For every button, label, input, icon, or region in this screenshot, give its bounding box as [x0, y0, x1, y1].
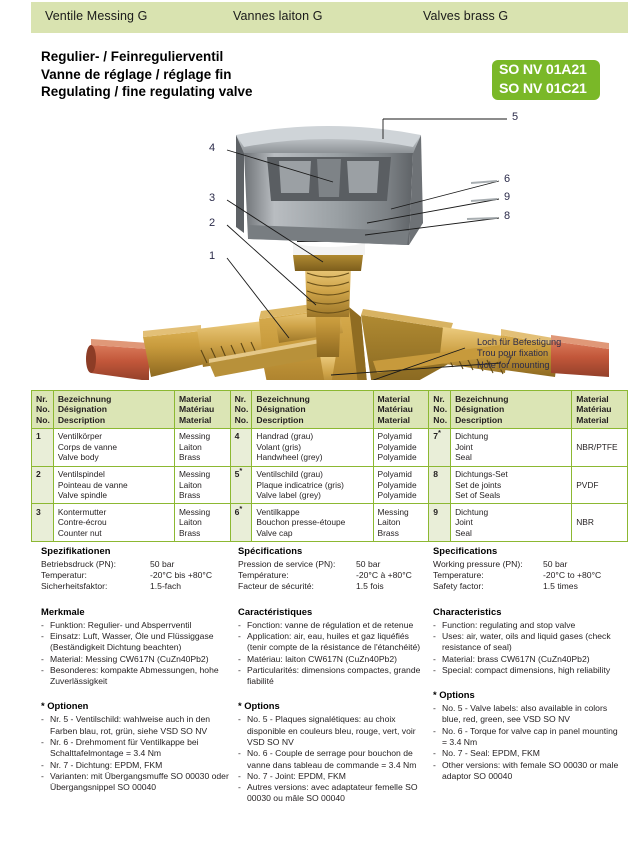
spec-value: 50 bar	[150, 559, 174, 570]
table-row: 1 Ventilkörper Corps de vanne Valve body…	[32, 428, 628, 466]
options-heading-en: * Options	[433, 689, 621, 700]
callout-4: 4	[209, 142, 215, 154]
list-item-text: Particularités: dimensions compactes, gr…	[247, 665, 420, 686]
dash-bullet: -	[238, 714, 241, 725]
list-item-text: Function: regulating and stop valve	[442, 620, 575, 630]
dash-bullet: -	[41, 771, 44, 782]
mounting-hole-annotation: Loch für Befestigung Trou pour fixation …	[477, 337, 561, 371]
dash-bullet: -	[433, 631, 436, 642]
list-item: -Einsatz: Luft, Wasser, Öle und Flüssigg…	[41, 631, 229, 654]
features-list-en: -Function: regulating and stop valve -Us…	[433, 620, 621, 676]
callout-2: 2	[209, 217, 215, 229]
row1-no-col2: 4	[230, 428, 252, 466]
language-header-bar: Ventile Messing G Vannes laiton G Valves…	[31, 2, 628, 33]
column-de: Spezifikationen Betriebsdruck (PN): 50 b…	[41, 545, 229, 793]
row1-mat1-fr: Laiton	[179, 442, 227, 453]
list-item-text: Autres versions: avec adaptateur femelle…	[247, 782, 418, 803]
header-desc3-en: Description	[455, 415, 568, 426]
row2-desc1-fr: Pointeau de vanne	[58, 480, 171, 491]
text-columns: Spezifikationen Betriebsdruck (PN): 50 b…	[41, 545, 641, 835]
dash-bullet: -	[433, 665, 436, 676]
row2-no3: 8	[433, 469, 438, 479]
header-desc2-fr: Désignation	[256, 404, 369, 415]
options-block-fr: * Options -No. 5 - Plaques signalétiques…	[238, 700, 426, 804]
header-nr-en: No.	[36, 415, 50, 426]
list-item-text: Funktion: Regulier- und Absperrventil	[50, 620, 191, 630]
row1-desc1-en: Valve body	[58, 452, 171, 463]
list-item: -Fonction: vanne de régulation et de ret…	[238, 620, 426, 631]
row2-mat1-en: Brass	[179, 490, 227, 501]
list-item: -Material: brass CW617N (CuZn40Pb2)	[433, 654, 621, 665]
list-item: -Nr. 6 - Drehmoment für Ventilkappe bei …	[41, 737, 229, 760]
row2-desc3-de: Dichtungs-Set	[455, 469, 568, 480]
header-lang-en: Valves brass G	[423, 9, 508, 23]
column-fr: Spécifications Pression de service (PN):…	[238, 545, 426, 805]
row3-desc-col1: Kontermutter Contre-écrou Counter nut	[53, 504, 174, 542]
spec-row: Working pressure (PN): 50 bar	[433, 559, 621, 570]
row3-desc1-de: Kontermutter	[58, 507, 171, 518]
header-nr-col1: Nr. No. No.	[32, 391, 54, 429]
dash-bullet: -	[433, 620, 436, 631]
header-desc2-de: Bezeichnung	[256, 394, 369, 405]
datasheet-page: Ventile Messing G Vannes laiton G Valves…	[0, 0, 642, 843]
list-item: -No. 6 - Couple de serrage pour bouchon …	[238, 748, 426, 771]
header-mat-col3: Material Matériau Material	[572, 391, 628, 429]
header-desc-fr: Désignation	[58, 404, 171, 415]
list-item: -Nr. 5 - Ventilschild: wahlweise auch in…	[41, 714, 229, 737]
page-title: Regulier- / Feinregulierventil Vanne de …	[41, 48, 421, 101]
header-mat-en: Material	[179, 415, 227, 426]
row3-desc-col3: Dichtung Joint Seal	[451, 504, 572, 542]
header-nr3-de: Nr.	[433, 394, 447, 405]
spec-value: 1.5 fois	[356, 581, 384, 592]
features-list-fr: -Fonction: vanne de régulation et de ret…	[238, 620, 426, 688]
spec-label: Temperatur:	[41, 570, 87, 581]
dash-bullet: -	[238, 782, 241, 793]
row2-no-col2: 5*	[230, 466, 252, 504]
spec-label: Betriebsdruck (PN):	[41, 559, 116, 570]
row3-mat-col3: NBR	[572, 504, 628, 542]
row3-mat1-de: Messing	[179, 507, 227, 518]
row1-mat1-de: Messing	[179, 431, 227, 442]
column-en: Specifications Working pressure (PN): 50…	[433, 545, 621, 782]
list-item-text: No. 5 - Valve labels: also available in …	[442, 703, 607, 724]
row2-desc2-en: Valve label (grey)	[256, 490, 369, 501]
list-item-text: Matériau: laiton CW617N (CuZn40Pb2)	[247, 654, 397, 664]
list-item-text: Other versions: with female SO 00030 or …	[442, 760, 618, 781]
dash-bullet: -	[41, 654, 44, 665]
header-mat2-en: Material	[378, 415, 426, 426]
row2-desc1-en: Valve spindle	[58, 490, 171, 501]
spec-row: Safety factor: 1.5 times	[433, 581, 621, 592]
header-mat2-de: Material	[378, 394, 426, 405]
row2-mat-col2: Polyamid Polyamide Polyamide	[373, 466, 429, 504]
list-item: -No. 5 - Plaques signalétiques: au choix…	[238, 714, 426, 748]
list-item: -Nr. 7 - Dichtung: EPDM, FKM	[41, 760, 229, 771]
row2-no-col3: 8	[429, 466, 451, 504]
header-mat3-en: Material	[576, 415, 624, 426]
header-desc-col3: Bezeichnung Désignation Description	[451, 391, 572, 429]
spec-row: Facteur de sécurité: 1.5 fois	[238, 581, 426, 592]
row1-desc3-en: Seal	[455, 452, 568, 463]
row3-no3: 9	[433, 507, 438, 517]
header-nr2-en: No.	[235, 415, 249, 426]
spec-row: Betriebsdruck (PN): 50 bar	[41, 559, 229, 570]
list-item: -Application: air, eau, huiles et gaz li…	[238, 631, 426, 654]
row3-desc1-fr: Contre-écrou	[58, 517, 171, 528]
dash-bullet: -	[41, 620, 44, 631]
features-heading-en: Characteristics	[433, 606, 621, 617]
spec-row: Sicherheitsfaktor: 1.5-fach	[41, 581, 229, 592]
features-heading-fr: Caractéristiques	[238, 606, 426, 617]
row2-desc3-en: Set of Seals	[455, 490, 568, 501]
options-list-en: -No. 5 - Valve labels: also available in…	[433, 703, 621, 782]
header-mat2-fr: Matériau	[378, 404, 426, 415]
mounting-note-de: Loch für Befestigung	[477, 337, 561, 348]
callout-3: 3	[209, 192, 215, 204]
header-nr-col3: Nr. No. No.	[429, 391, 451, 429]
header-nr2-fr: No.	[235, 404, 249, 415]
row1-no-col1: 1	[32, 428, 54, 466]
dash-bullet: -	[41, 631, 44, 642]
options-list-de: -Nr. 5 - Ventilschild: wahlweise auch in…	[41, 714, 229, 793]
list-item: -Material: Messing CW617N (CuZn40Pb2)	[41, 654, 229, 665]
header-mat3-de: Material	[576, 394, 624, 405]
dash-bullet: -	[238, 631, 241, 642]
dash-bullet: -	[41, 737, 44, 748]
mounting-note-en: Hole for mounting	[477, 360, 561, 371]
row1-mat2-fr: Polyamide	[378, 442, 426, 453]
row2-desc-col3: Dichtungs-Set Set de joints Set of Seals	[451, 466, 572, 504]
callout-5: 5	[512, 111, 518, 123]
row2-mat1-fr: Laiton	[179, 480, 227, 491]
list-item: -No. 7 - Joint: EPDM, FKM	[238, 771, 426, 782]
product-code-badge: SO NV 01A21 SO NV 01C21	[492, 60, 600, 100]
row2-mat-col3: PVDF	[572, 466, 628, 504]
row3-mat2-en: Brass	[378, 528, 426, 539]
spec-label: Safety factor:	[433, 581, 484, 592]
features-block-de: Merkmale -Funktion: Regulier- und Absper…	[41, 606, 229, 688]
spec-label: Temperature:	[433, 570, 484, 581]
dash-bullet: -	[433, 760, 436, 771]
row1-mat2-en: Polyamide	[378, 452, 426, 463]
row1-mat1-en: Brass	[179, 452, 227, 463]
list-item: -Besonderes: kompakte Abmessungen, hohe …	[41, 665, 229, 688]
row1-mat-col1: Messing Laiton Brass	[174, 428, 230, 466]
row2-desc3-fr: Set de joints	[455, 480, 568, 491]
row3-desc3-fr: Joint	[455, 517, 568, 528]
header-nr3-en: No.	[433, 415, 447, 426]
callout-1: 1	[209, 250, 215, 262]
list-item-text: Material: Messing CW617N (CuZn40Pb2)	[50, 654, 209, 664]
list-item: -No. 6 - Torque for valve cap in panel m…	[433, 726, 621, 749]
row2-desc2-fr: Plaque indicatrice (gris)	[256, 480, 369, 491]
features-heading-de: Merkmale	[41, 606, 229, 617]
row1-desc1-fr: Corps de vanne	[58, 442, 171, 453]
row1-no1: 1	[36, 431, 41, 441]
header-mat-col1: Material Matériau Material	[174, 391, 230, 429]
header-mat-col2: Material Matériau Material	[373, 391, 429, 429]
dash-bullet: -	[41, 714, 44, 725]
mounting-note-fr: Trou pour fixation	[477, 348, 561, 359]
product-code-1: SO NV 01A21	[492, 60, 600, 80]
row2-mat2-de: Polyamid	[378, 469, 426, 480]
header-lang-fr: Vannes laiton G	[233, 9, 323, 23]
spec-label: Température:	[238, 570, 289, 581]
list-item-text: No. 6 - Torque for valve cap in panel mo…	[442, 726, 618, 747]
table-row: 3 Kontermutter Contre-écrou Counter nut …	[32, 504, 628, 542]
parts-table: Nr. No. No. Bezeichnung Désignation Desc…	[31, 390, 628, 542]
row2-desc1-de: Ventilspindel	[58, 469, 171, 480]
table-row: 2 Ventilspindel Pointeau de vanne Valve …	[32, 466, 628, 504]
header-nr-col2: Nr. No. No.	[230, 391, 252, 429]
title-line-en: Regulating / fine regulating valve	[41, 83, 421, 101]
list-item-text: Nr. 5 - Ventilschild: wahlweise auch in …	[50, 714, 210, 735]
row2-desc-col1: Ventilspindel Pointeau de vanne Valve sp…	[53, 466, 174, 504]
list-item: -Autres versions: avec adaptateur femell…	[238, 782, 426, 805]
spec-value: 50 bar	[356, 559, 380, 570]
specs-heading-en: Specifications	[433, 545, 621, 556]
list-item: -Uses: air, water, oils and liquid gases…	[433, 631, 621, 654]
dash-bullet: -	[433, 726, 436, 737]
row2-no1: 2	[36, 469, 41, 479]
header-desc3-de: Bezeichnung	[455, 394, 568, 405]
row1-desc1-de: Ventilkörper	[58, 431, 171, 442]
list-item-text: No. 5 - Plaques signalétiques: au choix …	[247, 714, 416, 747]
options-list-fr: -No. 5 - Plaques signalétiques: au choix…	[238, 714, 426, 804]
spec-label: Facteur de sécurité:	[238, 581, 314, 592]
spec-row: Pression de service (PN): 50 bar	[238, 559, 426, 570]
list-item-text: Nr. 7 - Dichtung: EPDM, FKM	[50, 760, 162, 770]
list-item-text: Fonction: vanne de régulation et de rete…	[247, 620, 413, 630]
title-line-de: Regulier- / Feinregulierventil	[41, 48, 421, 66]
dash-bullet: -	[41, 665, 44, 676]
row1-desc2-en: Handwheel (grey)	[256, 452, 369, 463]
spec-value: -20°C à +80°C	[356, 570, 412, 581]
row2-mat1-de: Messing	[179, 469, 227, 480]
dash-bullet: -	[41, 760, 44, 771]
spec-value: -20°C bis +80°C	[150, 570, 212, 581]
row3-mat1-en: Brass	[179, 528, 227, 539]
row3-no-col1: 3	[32, 504, 54, 542]
spec-value: 50 bar	[543, 559, 567, 570]
row1-no-col3: 7*	[429, 428, 451, 466]
row3-mat-col2: Messing Laiton Brass	[373, 504, 429, 542]
header-nr-fr: No.	[36, 404, 50, 415]
header-mat-fr: Matériau	[179, 404, 227, 415]
spec-value: 1.5-fach	[150, 581, 181, 592]
list-item-text: Special: compact dimensions, high reliab…	[442, 665, 610, 675]
row3-desc2-fr: Bouchon presse-étoupe	[256, 517, 369, 528]
row3-desc2-de: Ventilkappe	[256, 507, 369, 518]
callout-6: 6	[504, 173, 510, 185]
row2-mat3: PVDF	[576, 469, 624, 490]
row1-no2: 4	[235, 431, 240, 441]
spec-row: Temperature: -20°C to +80°C	[433, 570, 621, 581]
dash-bullet: -	[433, 703, 436, 714]
spec-label: Sicherheitsfaktor:	[41, 581, 107, 592]
row3-mat3: NBR	[576, 507, 624, 528]
options-heading-de: * Optionen	[41, 700, 229, 711]
list-item-text: Nr. 6 - Drehmoment für Ventilkappe bei S…	[50, 737, 199, 758]
row2-no-col1: 2	[32, 466, 54, 504]
spec-value: -20°C to +80°C	[543, 570, 601, 581]
options-block-en: * Options -No. 5 - Valve labels: also av…	[433, 689, 621, 782]
row3-desc3-en: Seal	[455, 528, 568, 539]
title-line-fr: Vanne de réglage / réglage fin	[41, 66, 421, 84]
row1-desc2-de: Handrad (grau)	[256, 431, 369, 442]
table-header-row: Nr. No. No. Bezeichnung Désignation Desc…	[32, 391, 628, 429]
spec-row: Température: -20°C à +80°C	[238, 570, 426, 581]
list-item: -No. 7 - Seal: EPDM, FKM	[433, 748, 621, 759]
row3-no-col3: 9	[429, 504, 451, 542]
list-item-text: Material: brass CW617N (CuZn40Pb2)	[442, 654, 590, 664]
list-item-text: No. 7 - Joint: EPDM, FKM	[247, 771, 346, 781]
specs-heading-fr: Spécifications	[238, 545, 426, 556]
features-block-fr: Caractéristiques -Fonction: vanne de rég…	[238, 606, 426, 688]
row2-desc-col2: Ventilschild (grau) Plaque indicatrice (…	[252, 466, 373, 504]
row1-mat-col3: NBR/PTFE	[572, 428, 628, 466]
dash-bullet: -	[238, 748, 241, 759]
valve-cutaway-drawing: 4 3 2 1 5 6 9 8 7 Loch für Befestigung T…	[31, 105, 628, 380]
dash-bullet: -	[238, 620, 241, 631]
spec-label: Working pressure (PN):	[433, 559, 523, 570]
specs-heading-de: Spezifikationen	[41, 545, 229, 556]
list-item: -No. 5 - Valve labels: also available in…	[433, 703, 621, 726]
list-item: -Special: compact dimensions, high relia…	[433, 665, 621, 676]
row1-mat-col2: Polyamid Polyamide Polyamide	[373, 428, 429, 466]
features-list-de: -Funktion: Regulier- und Absperrventil -…	[41, 620, 229, 688]
header-desc2-en: Description	[256, 415, 369, 426]
list-item: -Varianten: mit Übergangsmuffe SO 00030 …	[41, 771, 229, 794]
features-block-en: Characteristics -Function: regulating an…	[433, 606, 621, 676]
options-block-de: * Optionen -Nr. 5 - Ventilschild: wahlwe…	[41, 700, 229, 793]
row3-desc-col2: Ventilkappe Bouchon presse-étoupe Valve …	[252, 504, 373, 542]
row3-mat2-de: Messing	[378, 507, 426, 518]
row2-mat-col1: Messing Laiton Brass	[174, 466, 230, 504]
row2-mat2-fr: Polyamide	[378, 480, 426, 491]
header-nr2-de: Nr.	[235, 394, 249, 405]
list-item: -Function: regulating and stop valve	[433, 620, 621, 631]
header-desc-col1: Bezeichnung Désignation Description	[53, 391, 174, 429]
list-item-text: No. 7 - Seal: EPDM, FKM	[442, 748, 540, 758]
row3-mat2-fr: Laiton	[378, 517, 426, 528]
row1-desc3-fr: Joint	[455, 442, 568, 453]
list-item-text: No. 6 - Couple de serrage pour bouchon d…	[247, 748, 416, 769]
dash-bullet: -	[433, 748, 436, 759]
header-lang-de: Ventile Messing G	[45, 9, 147, 23]
dash-bullet: -	[238, 654, 241, 665]
header-desc-de: Bezeichnung	[58, 394, 171, 405]
row1-desc-col2: Handrad (grau) Volant (gris) Handwheel (…	[252, 428, 373, 466]
row2-desc2-de: Ventilschild (grau)	[256, 469, 369, 480]
row3-mat1-fr: Laiton	[179, 517, 227, 528]
header-mat3-fr: Matériau	[576, 404, 624, 415]
row2-no2-star: *	[239, 466, 242, 475]
header-desc3-fr: Désignation	[455, 404, 568, 415]
spec-value: 1.5 times	[543, 581, 578, 592]
row1-desc-col3: Dichtung Joint Seal	[451, 428, 572, 466]
row3-no2-star: *	[239, 504, 242, 513]
row3-desc2-en: Valve cap	[256, 528, 369, 539]
list-item: -Other versions: with female SO 00030 or…	[433, 760, 621, 783]
row1-mat3: NBR/PTFE	[576, 431, 624, 452]
callout-8: 8	[504, 210, 510, 222]
header-desc-col2: Bezeichnung Désignation Description	[252, 391, 373, 429]
dash-bullet: -	[238, 771, 241, 782]
row1-no3-star: *	[438, 428, 441, 437]
row1-mat2-de: Polyamid	[378, 431, 426, 442]
list-item: -Matériau: laiton CW617N (CuZn40Pb2)	[238, 654, 426, 665]
row3-no-col2: 6*	[230, 504, 252, 542]
callout-9: 9	[504, 191, 510, 203]
row3-no1: 3	[36, 507, 41, 517]
row3-desc3-de: Dichtung	[455, 507, 568, 518]
row3-desc1-en: Counter nut	[58, 528, 171, 539]
list-item-text: Besonderes: kompakte Abmessungen, hohe Z…	[50, 665, 219, 686]
row1-desc-col1: Ventilkörper Corps de vanne Valve body	[53, 428, 174, 466]
list-item: -Particularités: dimensions compactes, g…	[238, 665, 426, 688]
list-item-text: Einsatz: Luft, Wasser, Öle und Flüssigga…	[50, 631, 214, 652]
row2-mat2-en: Polyamide	[378, 490, 426, 501]
header-nr-de: Nr.	[36, 394, 50, 405]
row1-desc2-fr: Volant (gris)	[256, 442, 369, 453]
row3-mat-col1: Messing Laiton Brass	[174, 504, 230, 542]
list-item-text: Uses: air, water, oils and liquid gases …	[442, 631, 611, 652]
header-desc-en: Description	[58, 415, 171, 426]
header-nr3-fr: No.	[433, 404, 447, 415]
row1-desc3-de: Dichtung	[455, 431, 568, 442]
dash-bullet: -	[433, 654, 436, 665]
options-heading-fr: * Options	[238, 700, 426, 711]
header-mat-de: Material	[179, 394, 227, 405]
list-item: -Funktion: Regulier- und Absperrventil	[41, 620, 229, 631]
spec-label: Pression de service (PN):	[238, 559, 335, 570]
list-item-text: Varianten: mit Übergangsmuffe SO 00030 o…	[50, 771, 229, 792]
dash-bullet: -	[238, 665, 241, 676]
spec-row: Temperatur: -20°C bis +80°C	[41, 570, 229, 581]
product-code-2: SO NV 01C21	[492, 80, 600, 99]
list-item-text: Application: air, eau, huiles et gaz liq…	[247, 631, 420, 652]
